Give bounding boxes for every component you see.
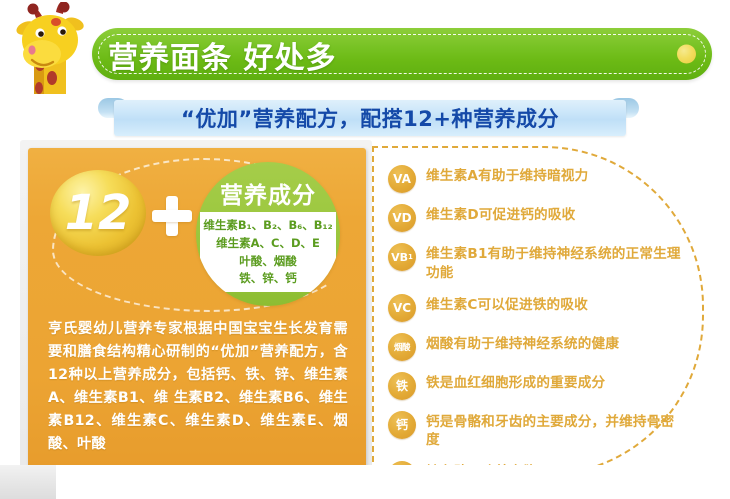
plus-icon [152, 196, 192, 236]
badge-vd: VD [388, 204, 416, 232]
nutrient-line: 维生素B₁、B₂、B₆、B₁₂ [203, 217, 332, 234]
benefit-text: 维生素A有助于维持暗视力 [426, 164, 688, 186]
badge-label: VD [392, 211, 411, 225]
promo-page: 营养面条 好处多 [0, 0, 730, 499]
list-item: 铁 铁是血红细胞形成的重要成分 [388, 371, 688, 400]
badge-va: VA [388, 165, 416, 193]
benefit-text: 烟酸有助于维持神经系统的健康 [426, 332, 688, 354]
nutrition-card: 12 营养成分 维生素B₁、B₂、B₆、B₁₂ 维生素A、C、D、E 叶酸、烟酸… [28, 148, 366, 470]
list-item: 钙 钙是骨骼和牙齿的主要成分，并维持骨密度 [388, 410, 688, 451]
page-header: 营养面条 好处多 [0, 0, 730, 95]
badge-vc: VC [388, 294, 416, 322]
benefit-text: 维生素B1有助于维持神经系统的正常生理功能 [426, 242, 688, 283]
yellow-dot-icon [677, 45, 696, 64]
nutrient-line: 叶酸、烟酸 [239, 253, 297, 270]
nutrients-circle: 营养成分 维生素B₁、B₂、B₆、B₁₂ 维生素A、C、D、E 叶酸、烟酸 铁、… [196, 162, 340, 306]
benefit-text: 维生素D可促进钙的吸收 [426, 203, 688, 225]
badge-label: VB [391, 251, 408, 264]
list-item: VA 维生素A有助于维持暗视力 [388, 164, 688, 193]
badge-label: VA [393, 172, 411, 186]
subtitle-ribbon: “优加”营养配方，配搭12+种营养成分 [96, 96, 641, 140]
giraffe-icon [12, 2, 98, 94]
nutrient-line: 维生素A、C、D、E [216, 235, 320, 252]
list-item: VD 维生素D可促进钙的吸收 [388, 203, 688, 232]
badge-label-sub: 1 [408, 253, 413, 261]
badge-niacin: 烟酸 [388, 333, 416, 361]
benefit-text: 铁是血红细胞形成的重要成分 [426, 371, 688, 393]
page-title: 营养面条 好处多 [108, 30, 336, 80]
count-bubble-number: 12 [65, 189, 132, 237]
nutrients-circle-title: 营养成分 [196, 176, 340, 210]
card-description: 亨氏婴幼儿营养专家根据中国宝宝生长发育需要和膳食结构精心研制的“优加”营养配方，… [48, 318, 348, 456]
list-item: 烟酸 烟酸有助于维持神经系统的健康 [388, 332, 688, 361]
badge-vb1: VB1 [388, 243, 416, 271]
badge-calcium: 钙 [388, 411, 416, 439]
page-bottom-white [56, 465, 730, 499]
list-item: VB1 维生素B1有助于维持神经系统的正常生理功能 [388, 242, 688, 283]
list-item: VC 维生素C可以促进铁的吸收 [388, 293, 688, 322]
badge-label: 钙 [396, 416, 408, 433]
nutrient-line: 铁、锌、钙 [239, 270, 297, 287]
benefits-panel-left-edge [372, 146, 374, 472]
subtitle-text: “优加”营养配方，配搭12+种营养成分 [114, 100, 626, 136]
benefits-list: VA 维生素A有助于维持暗视力 VD 维生素D可促进钙的吸收 VB1 维生素B1… [388, 164, 688, 499]
benefit-text: 钙是骨骼和牙齿的主要成分，并维持骨密度 [426, 410, 688, 451]
badge-label: 铁 [396, 377, 408, 394]
badge-label: VC [393, 301, 411, 315]
badge-iron: 铁 [388, 372, 416, 400]
count-bubble: 12 [50, 170, 146, 256]
benefit-text: 维生素C可以促进铁的吸收 [426, 293, 688, 315]
nutrients-list-box: 维生素B₁、B₂、B₆、B₁₂ 维生素A、C、D、E 叶酸、烟酸 铁、锌、钙 [200, 212, 336, 292]
main-content: 12 营养成分 维生素B₁、B₂、B₆、B₁₂ 维生素A、C、D、E 叶酸、烟酸… [0, 140, 730, 499]
badge-label: 烟酸 [394, 341, 410, 353]
